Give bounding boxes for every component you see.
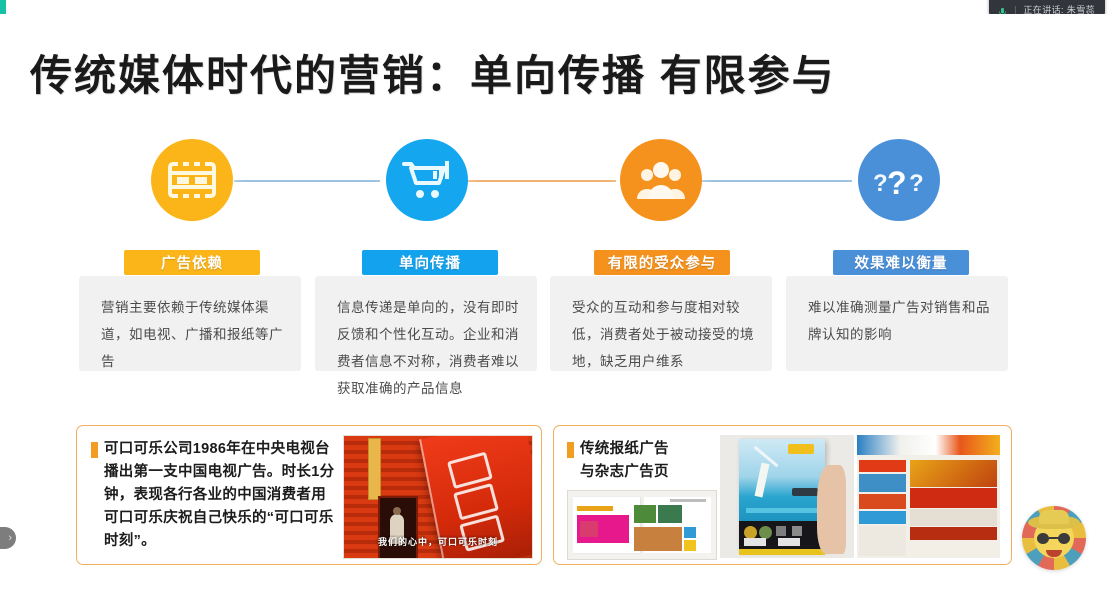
- magazine-spread-image: [567, 490, 717, 560]
- svg-text:?: ?: [887, 165, 907, 200]
- cover-dark-band: [739, 521, 825, 550]
- film-strip-icon: [168, 160, 216, 200]
- flow-connector-3: [700, 180, 852, 182]
- print-ads-caption: 传统报纸广告 与杂志广告页: [567, 438, 707, 484]
- badge-one-way-communication: 单向传播: [362, 250, 498, 275]
- badge-label: 效果难以衡量: [855, 252, 948, 273]
- card-text: 营销主要依赖于传统媒体渠道，如电视、广播和报纸等广告: [101, 294, 283, 375]
- mag-photo-5: [684, 527, 696, 538]
- description-card-hard-to-measure: 难以准确测量广告对销售和品牌认知的影响: [786, 276, 1008, 371]
- card-text: 信息传递是单向的，没有即时反馈和个性化互动。企业和消费者信息不对称，消费者难以获…: [337, 294, 519, 402]
- caption-text: 传统报纸广告 与杂志广告页: [580, 438, 669, 484]
- meeting-top-strip: 正在讲话: 朱雪蕊: [0, 0, 1111, 14]
- badge-hard-to-measure: 效果难以衡量: [833, 250, 969, 275]
- panel-coca-cola-tv-ad: 可口可乐公司1986年在中央电视台播出第一支中国电视广告。时长1分钟，表现各行各…: [76, 425, 542, 565]
- news-block-4: [859, 511, 906, 523]
- gold-vertical-sign: [368, 438, 381, 500]
- avatar-sunglass-bridge: [1049, 537, 1059, 539]
- news-block-7: [910, 509, 997, 526]
- coca-cola-caption: 可口可乐公司1986年在中央电视台播出第一支中国电视广告。时长1分钟，表现各行各…: [91, 438, 339, 553]
- news-block-3: [859, 494, 906, 509]
- caption-text: 可口可乐公司1986年在中央电视台播出第一支中国电视广告。时长1分钟，表现各行各…: [104, 438, 339, 553]
- news-block-1: [859, 460, 906, 472]
- avatar-hat-crown: [1039, 510, 1069, 524]
- news-block-8: [910, 527, 997, 539]
- news-block-9: [910, 541, 997, 555]
- flow-connector-1: [234, 180, 380, 182]
- magazine-cover: [739, 439, 825, 550]
- boat: [792, 488, 818, 496]
- bullet-marker: [567, 442, 574, 458]
- bullet-marker: [91, 442, 98, 458]
- question-marks-icon: ? ? ?: [871, 160, 927, 200]
- shopping-cart-chart-icon: [402, 159, 452, 201]
- news-feature-ad: [910, 460, 997, 487]
- badge-3: [776, 526, 786, 536]
- svg-text:?: ?: [909, 170, 924, 197]
- panel-print-ads: 传统报纸广告 与杂志广告页: [553, 425, 1012, 565]
- kite-surfer: [754, 463, 769, 498]
- flow-node-limited-audience-participation[interactable]: [620, 139, 702, 221]
- water-line: [746, 508, 818, 513]
- mag-headline: [577, 506, 613, 511]
- badge-4: [792, 526, 802, 536]
- badge-label: 广告依赖: [161, 252, 223, 273]
- sports-magazine-image: [720, 435, 854, 558]
- svg-text:?: ?: [873, 170, 888, 197]
- badge-ad-dependence: 广告依赖: [124, 250, 260, 275]
- badge-1: [744, 526, 757, 539]
- mag-photo-4: [634, 527, 682, 551]
- avatar-sunglass-left: [1037, 533, 1049, 544]
- badge-2: [759, 526, 772, 539]
- people-group-icon: [636, 161, 686, 199]
- card-text: 受众的互动和参与度相对较低，消费者处于被动接受的境地，缺乏用户维系: [572, 294, 754, 375]
- page-title: 传统媒体时代的营销：单向传播 有限参与: [30, 42, 836, 103]
- mag-photo-1: [580, 521, 598, 537]
- mag-textline: [670, 499, 706, 502]
- presentation-slide: 传统媒体时代的营销：单向传播 有限参与: [0, 14, 1111, 608]
- badge-label: 有限的受众参与: [608, 252, 717, 273]
- flow-node-ad-dependence[interactable]: [151, 139, 233, 221]
- description-card-limited-audience-participation: 受众的互动和参与度相对较低，消费者处于被动接受的境地，缺乏用户维系: [550, 276, 772, 371]
- banner-glyph-3: [459, 514, 505, 551]
- cartoon-face-avatar[interactable]: [1022, 506, 1086, 570]
- flow-connector-2: [468, 180, 616, 182]
- avatar-sunglass-right: [1058, 533, 1070, 544]
- description-card-one-way-communication: 信息传递是单向的，没有即时反馈和个性化互动。企业和消费者信息不对称，消费者难以获…: [315, 276, 537, 371]
- chevron-right-icon: ›: [8, 533, 12, 544]
- mag-photo-6: [684, 540, 696, 551]
- card-text: 难以准确测量广告对销售和品牌认知的影响: [808, 294, 990, 348]
- cover-yellow-bar: [739, 549, 825, 555]
- news-block-2: [859, 474, 906, 491]
- badge-label: 单向传播: [399, 252, 461, 273]
- cover-tag-1: [744, 538, 766, 546]
- cover-tag-2: [778, 538, 800, 546]
- newspaper-ad-page-image: [857, 435, 1000, 558]
- video-subtitle: 我们的心中，可口可乐时刻: [350, 535, 526, 546]
- coca-cola-tv-still-image: 我们的心中，可口可乐时刻: [343, 435, 533, 559]
- mag-photo-2: [634, 505, 656, 523]
- process-flow-row: ? ? ?: [0, 139, 1111, 239]
- hand-holding-magazine: [817, 465, 846, 554]
- description-card-ad-dependence: 营销主要依赖于传统媒体渠道，如电视、广播和报纸等广告: [79, 276, 301, 371]
- news-block-5: [859, 526, 906, 556]
- mag-photo-3: [658, 505, 682, 523]
- cover-logo: [788, 444, 814, 454]
- teal-accent-edge: [0, 0, 6, 14]
- flow-node-hard-to-measure[interactable]: ? ? ?: [858, 139, 940, 221]
- flow-node-one-way-communication[interactable]: [386, 139, 468, 221]
- sidebar-expand-handle[interactable]: ›: [0, 527, 16, 549]
- newspaper-masthead: [857, 435, 1000, 455]
- badge-limited-audience-participation: 有限的受众参与: [594, 250, 730, 275]
- news-block-6: [910, 488, 997, 508]
